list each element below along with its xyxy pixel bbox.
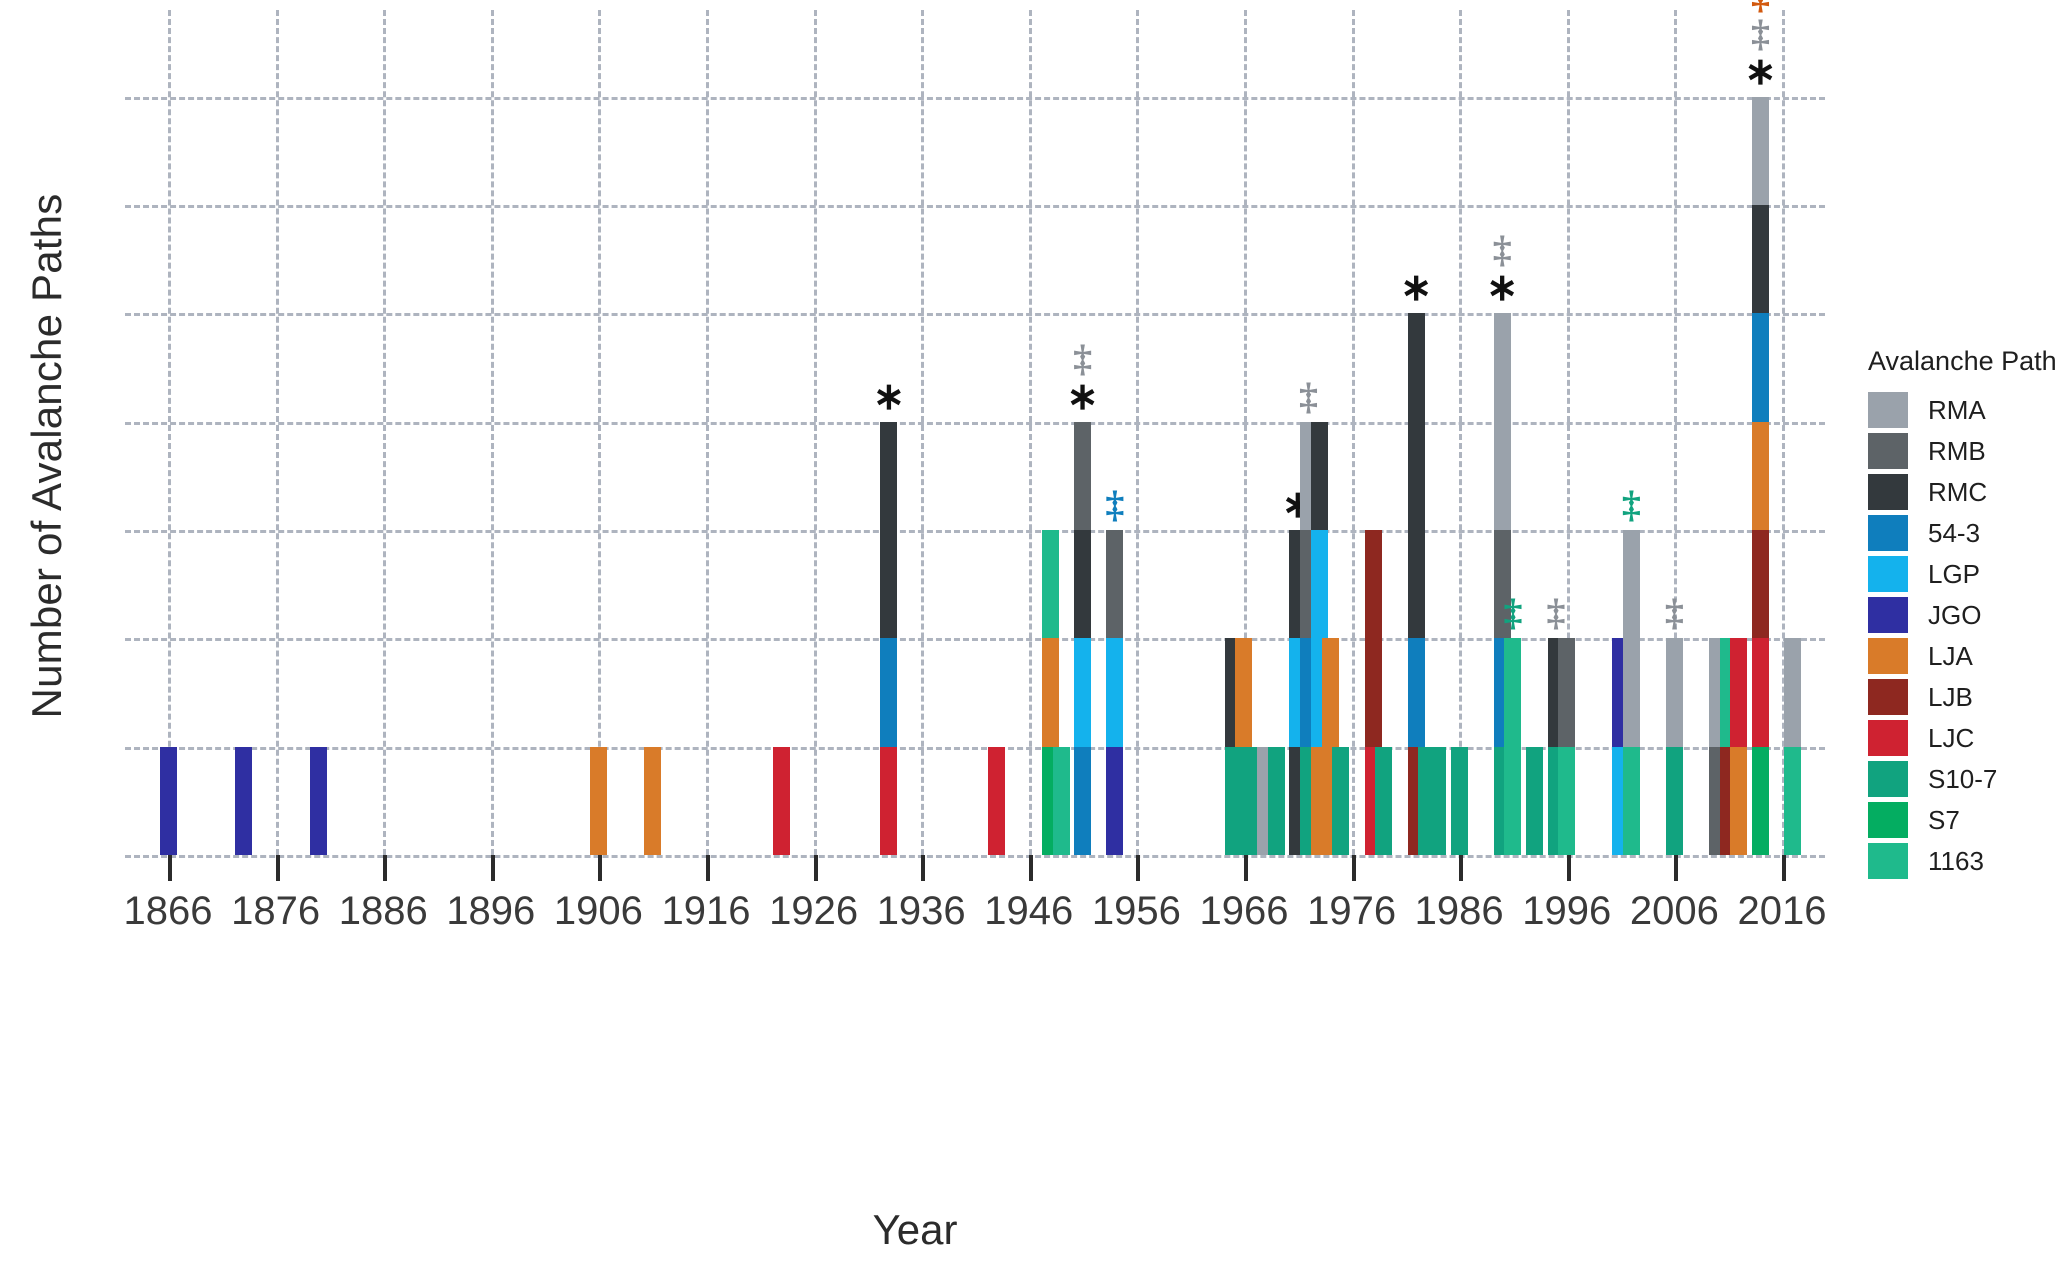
bar-1949[interactable] [1053, 747, 1070, 855]
bar-segment-RMC [1311, 422, 1328, 530]
gridline-vertical [1352, 10, 1355, 855]
bar-segment-LJA [1322, 638, 1339, 746]
legend-item-label: LJA [1928, 641, 1973, 672]
bar-segment-LJC [773, 747, 790, 855]
bar-1991[interactable]: ‡ [1504, 638, 1521, 855]
legend-item-label: S7 [1928, 805, 1960, 836]
bar-1880[interactable] [310, 747, 327, 855]
bar-segment-LJA [644, 747, 661, 855]
legend-item-label: RMB [1928, 436, 1986, 467]
legend-item-LJA[interactable]: LJA [1868, 637, 2067, 675]
bar-segment-LJC [1730, 638, 1747, 746]
bar-1943[interactable] [988, 747, 1005, 855]
legend-title: Avalanche Path [1868, 346, 2067, 377]
bar-segment-S7 [1752, 747, 1769, 855]
bar-1906[interactable] [590, 747, 607, 855]
bar-segment-1163 [1784, 747, 1801, 855]
bar-segment-RMC [1074, 530, 1091, 638]
x-axis: 1866187618861896190619161926193619461956… [125, 855, 1825, 945]
bar-segment-RMA [1784, 638, 1801, 746]
x-axis-tick-mark [706, 855, 710, 881]
bar-2006[interactable]: ‡ [1666, 638, 1683, 855]
annotation-dagger_gray-icon: ‡ [1073, 340, 1092, 378]
bar-2014[interactable]: ∗‡‡ [1752, 97, 1769, 855]
legend-swatch-icon [1868, 802, 1908, 838]
gridline-vertical [814, 10, 817, 855]
bar-segment-JGO [235, 747, 252, 855]
bar-segment-54-3 [1752, 313, 1769, 421]
legend-item-JGO[interactable]: JGO [1868, 596, 2067, 634]
bar-segment-S10-7 [1268, 747, 1285, 855]
bar-segment-LJA [1730, 747, 1747, 855]
legend-swatch-icon [1868, 515, 1908, 551]
plot-area: ∗∗‡‡∗‡∗∗‡‡‡‡‡∗‡‡ [125, 10, 1825, 855]
annotation-asterisk-icon: ∗ [873, 378, 905, 416]
bar-segment-LJB [1365, 530, 1382, 747]
bar-segment-S10-7 [1332, 747, 1349, 855]
bar-1993[interactable] [1526, 747, 1543, 855]
legend-item-LJB[interactable]: LJB [1868, 678, 2067, 716]
gridline-vertical [1029, 10, 1032, 855]
legend-item-label: LGP [1928, 559, 1980, 590]
x-axis-tick-mark [1782, 855, 1786, 881]
annotation-dagger_blue-icon: ‡ [1105, 486, 1124, 524]
bar-segment-S10-7 [1451, 747, 1468, 855]
bar-1954[interactable]: ‡ [1106, 530, 1123, 855]
legend-item-label: JGO [1928, 600, 1981, 631]
bar-segment-54-3 [1074, 747, 1091, 855]
x-axis-tick-label: 2016 [1692, 889, 1872, 934]
annotation-dagger_teal-icon: ‡ [1503, 594, 1522, 632]
bar-segment-RMA [1752, 97, 1769, 205]
x-axis-tick-mark [1244, 855, 1248, 881]
annotation-dagger_gray-icon: ‡ [1493, 231, 1512, 269]
bar-2002[interactable]: ‡ [1623, 530, 1640, 855]
gridline-horizontal [125, 422, 1825, 425]
bar-segment-RMA [1666, 638, 1683, 746]
annotation-dagger_orange-icon: ‡ [1751, 0, 1770, 15]
legend-item-label: LJB [1928, 682, 1973, 713]
bar-1979[interactable] [1375, 747, 1392, 855]
bar-1873[interactable] [235, 747, 252, 855]
bar-1969[interactable] [1268, 747, 1285, 855]
legend-item-label: 1163 [1928, 846, 1984, 877]
bar-1975[interactable] [1332, 747, 1349, 855]
annotation-asterisk-icon: ∗ [1400, 269, 1432, 307]
legend-swatch-icon [1868, 843, 1908, 879]
bar-1986[interactable] [1451, 747, 1468, 855]
legend-item-label: RMA [1928, 395, 1986, 426]
bar-1866[interactable] [160, 747, 177, 855]
bar-segment-1163 [1042, 530, 1059, 638]
bar-1911[interactable] [644, 747, 661, 855]
x-axis-tick-mark [921, 855, 925, 881]
gridline-vertical [1459, 10, 1462, 855]
annotation-dagger_gray-icon: ‡ [1299, 378, 1318, 416]
bar-segment-LJC [880, 747, 897, 855]
bar-segment-LJA [1752, 422, 1769, 530]
bar-1996[interactable] [1558, 638, 1575, 855]
bar-segment-JGO [1106, 747, 1123, 855]
x-axis-tick-mark [383, 855, 387, 881]
x-axis-tick-mark [1029, 855, 1033, 881]
bar-segment-RMC [1752, 205, 1769, 313]
bar-segment-1163 [1623, 747, 1640, 855]
bar-segment-S10-7 [1666, 747, 1683, 855]
gridline-horizontal [125, 530, 1825, 533]
bar-segment-1163 [1504, 638, 1521, 855]
legend-item-54-3[interactable]: 54-3 [1868, 514, 2067, 552]
legend-item-S7[interactable]: S7 [1868, 801, 2067, 839]
legend-swatch-icon [1868, 556, 1908, 592]
bar-1984[interactable] [1429, 747, 1446, 855]
bar-segment-54-3 [880, 638, 897, 746]
bar-segment-LJB [1752, 530, 1769, 638]
bar-2012[interactable] [1730, 638, 1747, 855]
gridline-vertical [168, 10, 171, 855]
bar-segment-S10-7 [1526, 747, 1543, 855]
legend-swatch-icon [1868, 392, 1908, 428]
legend-item-LGP[interactable]: LGP [1868, 555, 2067, 593]
legend-item-label: 54-3 [1928, 518, 1980, 549]
bar-segment-54-3 [1408, 638, 1425, 746]
annotation-dagger_gray-icon: ‡ [1665, 594, 1684, 632]
gridline-vertical [598, 10, 601, 855]
bar-1951[interactable]: ∗‡ [1074, 422, 1091, 855]
bar-segment-RMC [1408, 313, 1425, 638]
legend-item-RMA[interactable]: RMA [1868, 391, 2067, 429]
bar-segment-RMA [1494, 313, 1511, 530]
x-axis-tick-mark [1674, 855, 1678, 881]
bar-segment-LJC [1752, 638, 1769, 746]
bar-segment-LJA [590, 747, 607, 855]
legend-item-RMC[interactable]: RMC [1868, 473, 2067, 511]
legend-item-label: S10-7 [1928, 764, 1997, 795]
y-axis-title: Number of Avalanche Paths [22, 106, 72, 806]
annotation-asterisk-icon: ∗ [1067, 378, 1099, 416]
x-axis-tick-mark [814, 855, 818, 881]
gridline-vertical [383, 10, 386, 855]
x-axis-tick-mark [1459, 855, 1463, 881]
bar-segment-RMB [1558, 638, 1575, 746]
gridline-vertical [276, 10, 279, 855]
annotation-dagger_gray-icon: ‡ [1547, 594, 1566, 632]
bar-segment-JGO [160, 747, 177, 855]
gridline-horizontal [125, 205, 1825, 208]
legend: Avalanche Path RMARMBRMC54-3LGPJGOLJALJB… [1868, 346, 2067, 883]
gridline-vertical [491, 10, 494, 855]
bar-segment-LJA [1042, 638, 1059, 746]
annotation-dagger_gray-icon: ‡ [1751, 15, 1770, 53]
bar-segment-JGO [310, 747, 327, 855]
bar-segment-S10-7 [1375, 747, 1392, 855]
legend-items: RMARMBRMC54-3LGPJGOLJALJBLJCS10-7S71163 [1868, 391, 2067, 880]
chart-figure: Number of Avalanche Paths Year 01234567 … [0, 0, 2067, 1268]
gridline-vertical [1136, 10, 1139, 855]
legend-swatch-icon [1868, 474, 1908, 510]
legend-swatch-icon [1868, 679, 1908, 715]
annotation-asterisk-icon: ∗ [1486, 269, 1518, 307]
gridline-horizontal [125, 313, 1825, 316]
bar-segment-RMB [1106, 530, 1123, 638]
legend-item-label: RMC [1928, 477, 1987, 508]
legend-swatch-icon [1868, 433, 1908, 469]
bar-1923[interactable] [773, 747, 790, 855]
legend-item-RMB[interactable]: RMB [1868, 432, 2067, 470]
bar-segment-LGP [1106, 638, 1123, 746]
legend-item-1163[interactable]: 1163 [1868, 842, 2067, 880]
x-axis-title: Year [0, 1205, 1830, 1255]
x-axis-tick-mark [598, 855, 602, 881]
x-axis-tick-mark [1567, 855, 1571, 881]
bar-1933[interactable]: ∗ [880, 422, 897, 855]
bar-segment-1163 [1558, 747, 1575, 855]
bar-segment-RMA [1623, 530, 1640, 747]
bar-segment-LGP [1074, 638, 1091, 746]
legend-swatch-icon [1868, 761, 1908, 797]
x-axis-tick-mark [1136, 855, 1140, 881]
legend-item-LJC[interactable]: LJC [1868, 719, 2067, 757]
bar-segment-RMB [1074, 422, 1091, 530]
gridline-vertical [921, 10, 924, 855]
legend-swatch-icon [1868, 720, 1908, 756]
gridline-vertical [706, 10, 709, 855]
bar-segment-LJA [1235, 638, 1252, 746]
annotation-dagger_teal-icon: ‡ [1622, 486, 1641, 524]
bar-segment-LJC [988, 747, 1005, 855]
bar-segment-RMC [880, 422, 897, 639]
bar-2017[interactable] [1784, 638, 1801, 855]
legend-item-S10-7[interactable]: S10-7 [1868, 760, 2067, 798]
x-axis-tick-mark [491, 855, 495, 881]
legend-swatch-icon [1868, 597, 1908, 633]
gridline-horizontal [125, 97, 1825, 100]
x-axis-tick-mark [1352, 855, 1356, 881]
bar-segment-1163 [1053, 747, 1070, 855]
x-axis-tick-mark [276, 855, 280, 881]
annotation-asterisk-icon: ∗ [1745, 53, 1777, 91]
legend-swatch-icon [1868, 638, 1908, 674]
legend-item-label: LJC [1928, 723, 1974, 754]
x-axis-tick-mark [168, 855, 172, 881]
bar-segment-S10-7 [1429, 747, 1446, 855]
